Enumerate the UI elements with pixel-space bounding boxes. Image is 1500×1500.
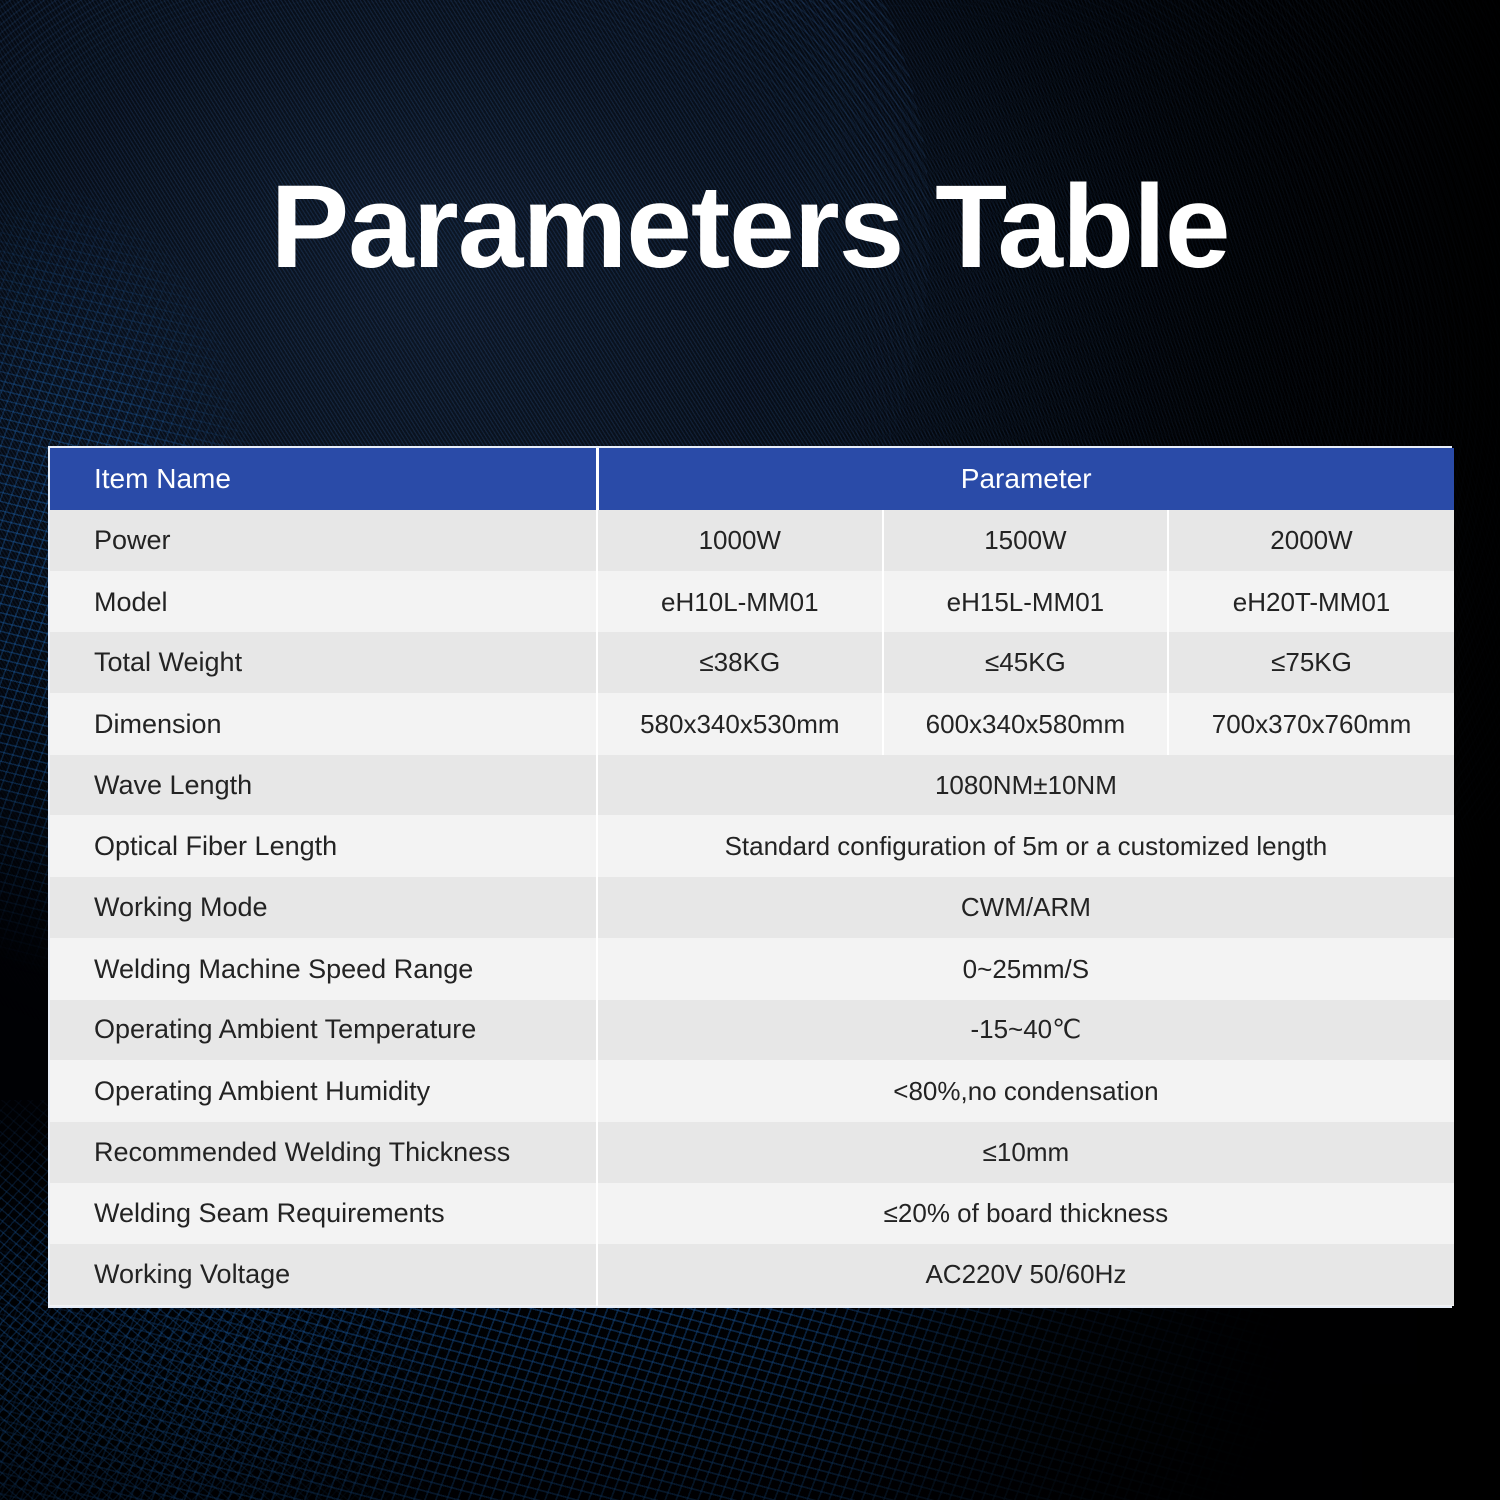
table-cell-parameter-value: 1500W <box>883 510 1169 571</box>
poster-canvas: Parameters Table Item Name Parameter Pow… <box>0 0 1500 1500</box>
table-row: Welding Machine Speed Range0~25mm/S <box>50 938 1454 999</box>
table-cell-parameter-value: eH20T-MM01 <box>1168 571 1454 632</box>
table-cell-parameter-value: ≤75KG <box>1168 632 1454 693</box>
table-cell-parameter-value: -15~40℃ <box>597 1000 1454 1061</box>
table-header-row: Item Name Parameter <box>50 448 1454 510</box>
table-cell-parameter-value: 0~25mm/S <box>597 938 1454 999</box>
table-row: Welding Seam Requirements≤20% of board t… <box>50 1183 1454 1244</box>
table-row: Optical Fiber LengthStandard configurati… <box>50 816 1454 877</box>
table-body: Power1000W1500W2000WModeleH10L-MM01eH15L… <box>50 510 1454 1306</box>
column-header-item-name: Item Name <box>50 448 597 510</box>
table-cell-item-name: Working Voltage <box>50 1244 597 1305</box>
table-cell-item-name: Total Weight <box>50 632 597 693</box>
table-row: Recommended Welding Thickness≤10mm <box>50 1122 1454 1183</box>
table-cell-item-name: Welding Seam Requirements <box>50 1183 597 1244</box>
parameters-table: Item Name Parameter Power1000W1500W2000W… <box>50 448 1454 1306</box>
table-cell-parameter-value: ≤38KG <box>597 632 883 693</box>
table-cell-parameter-value: 700x370x760mm <box>1168 694 1454 755</box>
column-header-parameter: Parameter <box>597 448 1454 510</box>
table-cell-parameter-value: 1000W <box>597 510 883 571</box>
table-row: Working ModeCWM/ARM <box>50 877 1454 938</box>
table-cell-parameter-value: Standard configuration of 5m or a custom… <box>597 816 1454 877</box>
table-row: Dimension580x340x530mm600x340x580mm700x3… <box>50 694 1454 755</box>
table-cell-parameter-value: AC220V 50/60Hz <box>597 1244 1454 1305</box>
table-cell-parameter-value: ≤10mm <box>597 1122 1454 1183</box>
table-cell-parameter-value: eH10L-MM01 <box>597 571 883 632</box>
table-row: Wave Length1080NM±10NM <box>50 755 1454 816</box>
table-cell-parameter-value: ≤20% of board thickness <box>597 1183 1454 1244</box>
table-row: Total Weight≤38KG≤45KG≤75KG <box>50 632 1454 693</box>
table-cell-item-name: Recommended Welding Thickness <box>50 1122 597 1183</box>
table-cell-item-name: Operating Ambient Temperature <box>50 1000 597 1061</box>
table-cell-parameter-value: <80%,no condensation <box>597 1061 1454 1122</box>
table-row: Power1000W1500W2000W <box>50 510 1454 571</box>
table-cell-item-name: Dimension <box>50 694 597 755</box>
table-cell-item-name: Wave Length <box>50 755 597 816</box>
table-cell-item-name: Working Mode <box>50 877 597 938</box>
table-cell-parameter-value: 2000W <box>1168 510 1454 571</box>
page-title: Parameters Table <box>0 168 1500 286</box>
table-cell-parameter-value: 1080NM±10NM <box>597 755 1454 816</box>
parameters-table-frame: Item Name Parameter Power1000W1500W2000W… <box>48 446 1452 1308</box>
table-cell-parameter-value: eH15L-MM01 <box>883 571 1169 632</box>
table-cell-parameter-value: 600x340x580mm <box>883 694 1169 755</box>
table-header: Item Name Parameter <box>50 448 1454 510</box>
table-cell-parameter-value: CWM/ARM <box>597 877 1454 938</box>
table-cell-item-name: Welding Machine Speed Range <box>50 938 597 999</box>
table-row: Operating Ambient Humidity<80%,no conden… <box>50 1061 1454 1122</box>
table-cell-parameter-value: 580x340x530mm <box>597 694 883 755</box>
table-cell-parameter-value: ≤45KG <box>883 632 1169 693</box>
table-row: Working VoltageAC220V 50/60Hz <box>50 1244 1454 1305</box>
table-cell-item-name: Power <box>50 510 597 571</box>
table-cell-item-name: Operating Ambient Humidity <box>50 1061 597 1122</box>
table-row: Operating Ambient Temperature-15~40℃ <box>50 1000 1454 1061</box>
table-row: ModeleH10L-MM01eH15L-MM01eH20T-MM01 <box>50 571 1454 632</box>
table-cell-item-name: Optical Fiber Length <box>50 816 597 877</box>
table-cell-item-name: Model <box>50 571 597 632</box>
